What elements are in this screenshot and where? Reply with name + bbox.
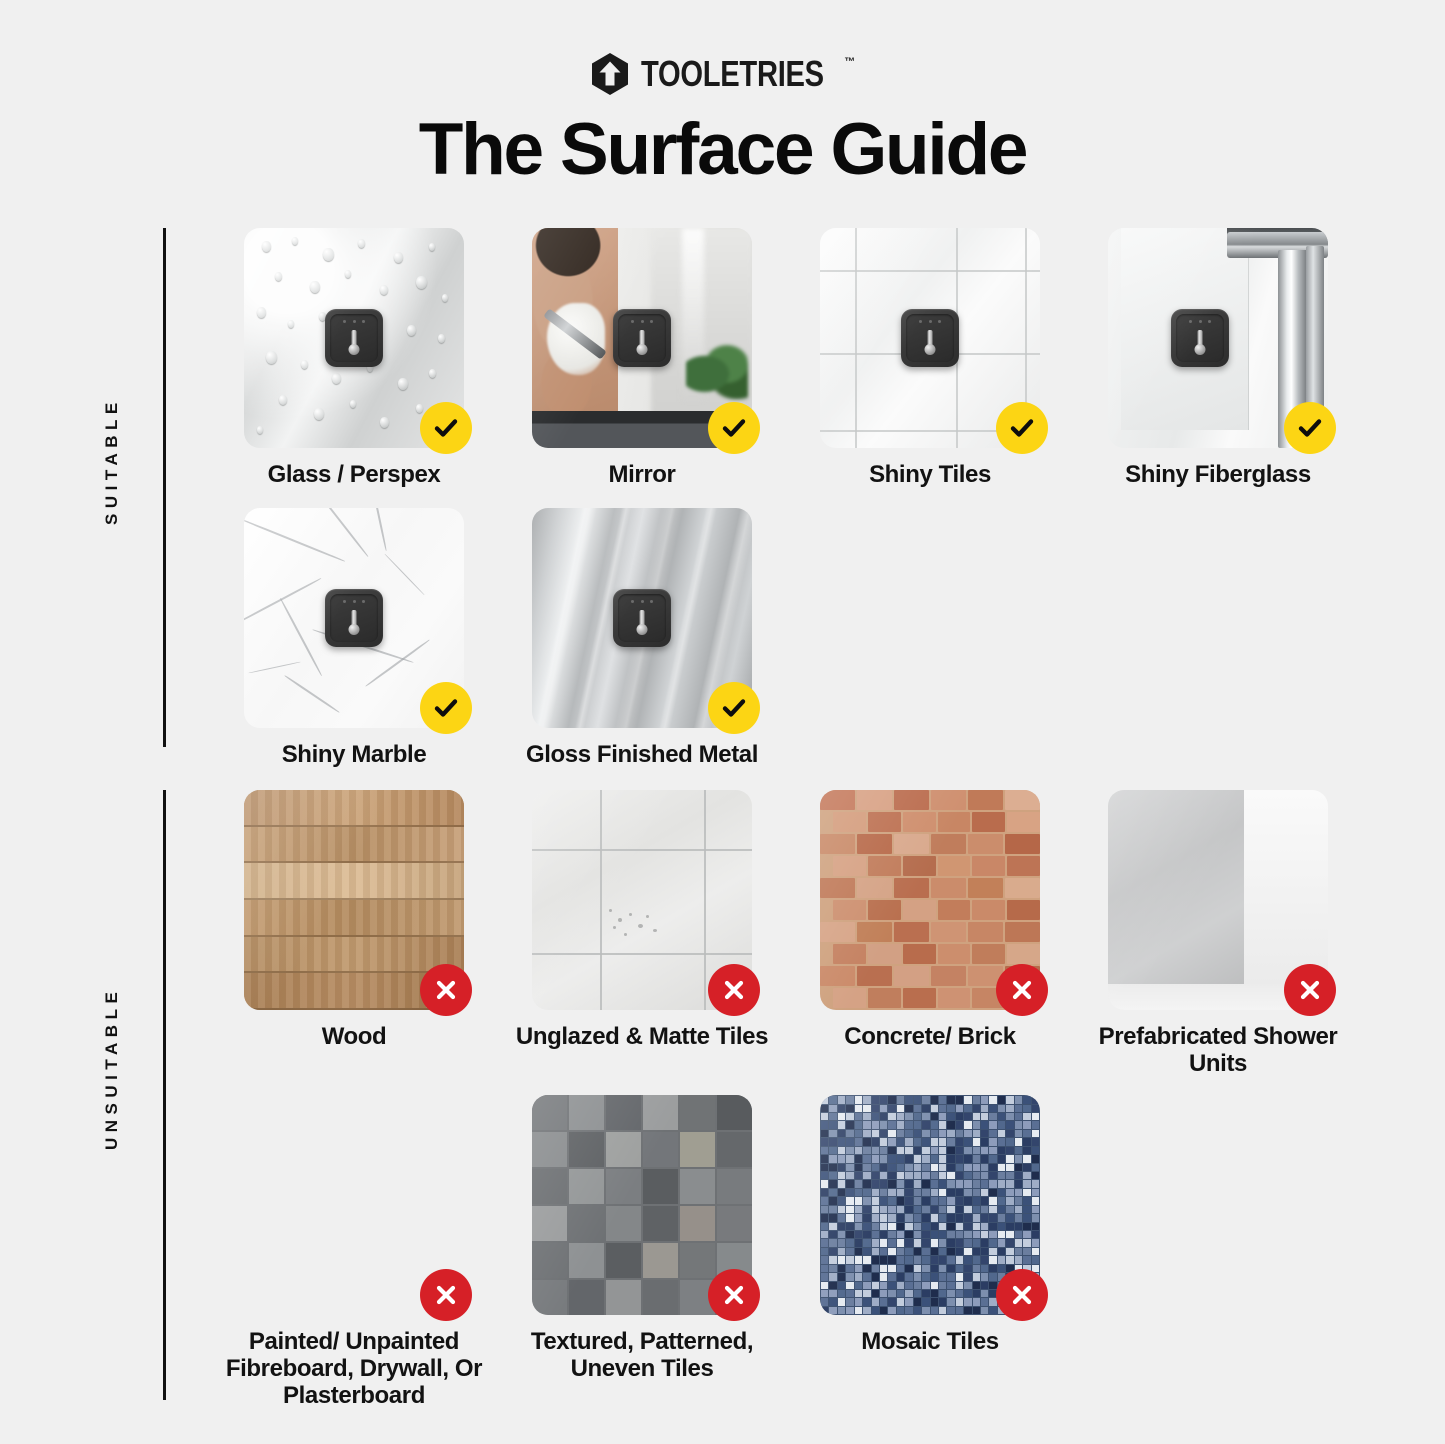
thumbnail-wrap <box>820 790 1040 1010</box>
thumbnail-wrap <box>820 228 1040 448</box>
cross-icon <box>1009 977 1035 1003</box>
suitable-grid: Glass / Perspex <box>210 228 1362 768</box>
unsuitable-grid: Wood <box>210 790 1362 1410</box>
suitable-check-badge <box>1284 402 1336 454</box>
surface-caption: Mosaic Tiles <box>861 1328 999 1355</box>
brand-logo: TOOLETRIES ™ <box>0 52 1445 96</box>
surface-caption: Painted/ Unpainted Fibreboard, Drywall, … <box>218 1328 490 1409</box>
wall-hook-device <box>325 589 383 647</box>
surface-caption: Prefabricated Shower Units <box>1082 1023 1354 1077</box>
cross-icon <box>433 1282 459 1308</box>
unsuitable-cross-badge <box>420 964 472 1016</box>
wall-hook-device <box>613 589 671 647</box>
surface-card-shiny-marble[interactable]: Shiny Marble <box>210 508 498 768</box>
unsuitable-cross-badge <box>996 964 1048 1016</box>
surface-card-glass[interactable]: Glass / Perspex <box>210 228 498 488</box>
thumbnail-wrap <box>244 790 464 1010</box>
unsuitable-cross-badge <box>708 964 760 1016</box>
thumbnail-wrap <box>244 1095 464 1315</box>
brand-trademark: ™ <box>844 56 855 68</box>
surface-card-mirror[interactable]: Mirror <box>498 228 786 488</box>
unsuitable-cross-badge <box>1284 964 1336 1016</box>
thumbnail-wrap <box>1108 790 1328 1010</box>
thumbnail-wrap <box>820 1095 1040 1315</box>
unsuitable-rail <box>163 790 166 1400</box>
check-icon <box>720 694 748 722</box>
thumbnail-wrap <box>244 508 464 728</box>
suitable-check-badge <box>708 682 760 734</box>
section-label-suitable: SUITABLE <box>102 405 122 525</box>
page-title: The Surface Guide <box>0 108 1445 191</box>
surface-card-fibreboard[interactable]: Painted/ Unpainted Fibreboard, Drywall, … <box>210 1095 498 1409</box>
surface-guide-infographic: TOOLETRIES ™ The Surface Guide SUITABLE … <box>0 0 1445 1444</box>
thumbnail-wrap <box>532 790 752 1010</box>
surface-caption: Wood <box>322 1023 387 1050</box>
thumbnail-wrap <box>532 1095 752 1315</box>
surface-card-mosaic-tiles[interactable]: Mosaic Tiles <box>786 1095 1074 1409</box>
cross-icon <box>721 1282 747 1308</box>
unsuitable-cross-badge <box>420 1269 472 1321</box>
check-icon <box>432 694 460 722</box>
surface-caption: Gloss Finished Metal <box>526 741 758 768</box>
surface-caption: Glass / Perspex <box>268 461 441 488</box>
surface-card-matte-tiles[interactable]: Unglazed & Matte Tiles <box>498 790 786 1077</box>
surface-card-gloss-metal[interactable]: Gloss Finished Metal <box>498 508 786 768</box>
unsuitable-cross-badge <box>708 1269 760 1321</box>
suitable-check-badge <box>708 402 760 454</box>
cross-icon <box>433 977 459 1003</box>
wall-hook-device <box>1171 309 1229 367</box>
surface-card-prefab-shower[interactable]: Prefabricated Shower Units <box>1074 790 1362 1077</box>
suitable-check-badge <box>420 402 472 454</box>
surface-caption: Concrete/ Brick <box>844 1023 1015 1050</box>
section-label-unsuitable: UNSUITABLE <box>102 1030 122 1150</box>
wall-hook-device <box>613 309 671 367</box>
thumbnail-wrap <box>532 508 752 728</box>
wall-hook-device <box>325 309 383 367</box>
plant-decor <box>686 342 748 400</box>
hexagon-arrow-icon <box>590 52 630 96</box>
check-icon <box>1008 414 1036 442</box>
cross-icon <box>721 977 747 1003</box>
wall-hook-device <box>901 309 959 367</box>
cross-icon <box>1297 977 1323 1003</box>
cross-icon <box>1009 1282 1035 1308</box>
suitable-rail <box>163 228 166 747</box>
brand-name: TOOLETRIES <box>641 53 824 95</box>
shower-panel <box>1108 790 1244 988</box>
thumbnail-wrap <box>244 228 464 448</box>
surface-card-wood[interactable]: Wood <box>210 790 498 1077</box>
surface-card-concrete-brick[interactable]: Concrete/ Brick <box>786 790 1074 1077</box>
check-icon <box>720 414 748 442</box>
surface-caption: Mirror <box>609 461 676 488</box>
surface-card-textured-tiles[interactable]: Textured, Patterned, Uneven Tiles <box>498 1095 786 1409</box>
surface-caption: Shiny Marble <box>282 741 427 768</box>
surface-caption: Shiny Tiles <box>869 461 991 488</box>
check-icon <box>432 414 460 442</box>
surface-card-shiny-tiles[interactable]: Shiny Tiles <box>786 228 1074 488</box>
surface-caption: Shiny Fiberglass <box>1125 461 1311 488</box>
suitable-check-badge <box>420 682 472 734</box>
surface-caption: Unglazed & Matte Tiles <box>516 1023 768 1050</box>
unsuitable-cross-badge <box>996 1269 1048 1321</box>
thumbnail-wrap <box>532 228 752 448</box>
check-icon <box>1296 414 1324 442</box>
thumbnail-wrap <box>1108 228 1328 448</box>
suitable-check-badge <box>996 402 1048 454</box>
surface-caption: Textured, Patterned, Uneven Tiles <box>506 1328 778 1382</box>
surface-card-shiny-fiberglass[interactable]: Shiny Fiberglass <box>1074 228 1362 488</box>
